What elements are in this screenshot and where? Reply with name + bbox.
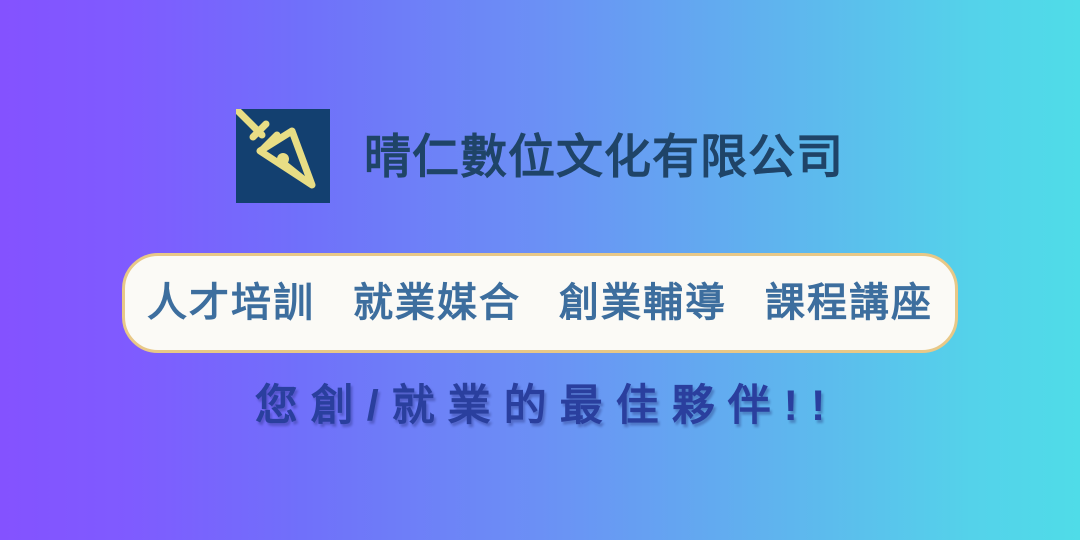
fountain-pen-nib-icon bbox=[236, 109, 330, 203]
services-list: 人才培訓 就業媒合 創業輔導 課程講座 bbox=[147, 283, 933, 323]
company-header: 晴仁數位文化有限公司 bbox=[0, 104, 1080, 208]
service-item-job-matching: 就業媒合 bbox=[353, 283, 521, 323]
services-banner: 人才培訓 就業媒合 創業輔導 課程講座 bbox=[122, 253, 958, 353]
service-item-talent-training: 人才培訓 bbox=[147, 283, 315, 323]
service-item-courses-lectures: 課程講座 bbox=[765, 283, 933, 323]
service-item-startup-counseling: 創業輔導 bbox=[559, 283, 727, 323]
promo-banner: 晴仁數位文化有限公司 人才培訓 就業媒合 創業輔導 課程講座 您創/就業的最佳夥… bbox=[0, 0, 1080, 540]
tagline-text: 您創/就業的最佳夥伴!! bbox=[242, 385, 839, 428]
company-name: 晴仁數位文化有限公司 bbox=[364, 133, 844, 180]
tagline: 您創/就業的最佳夥伴!! bbox=[0, 375, 1080, 437]
